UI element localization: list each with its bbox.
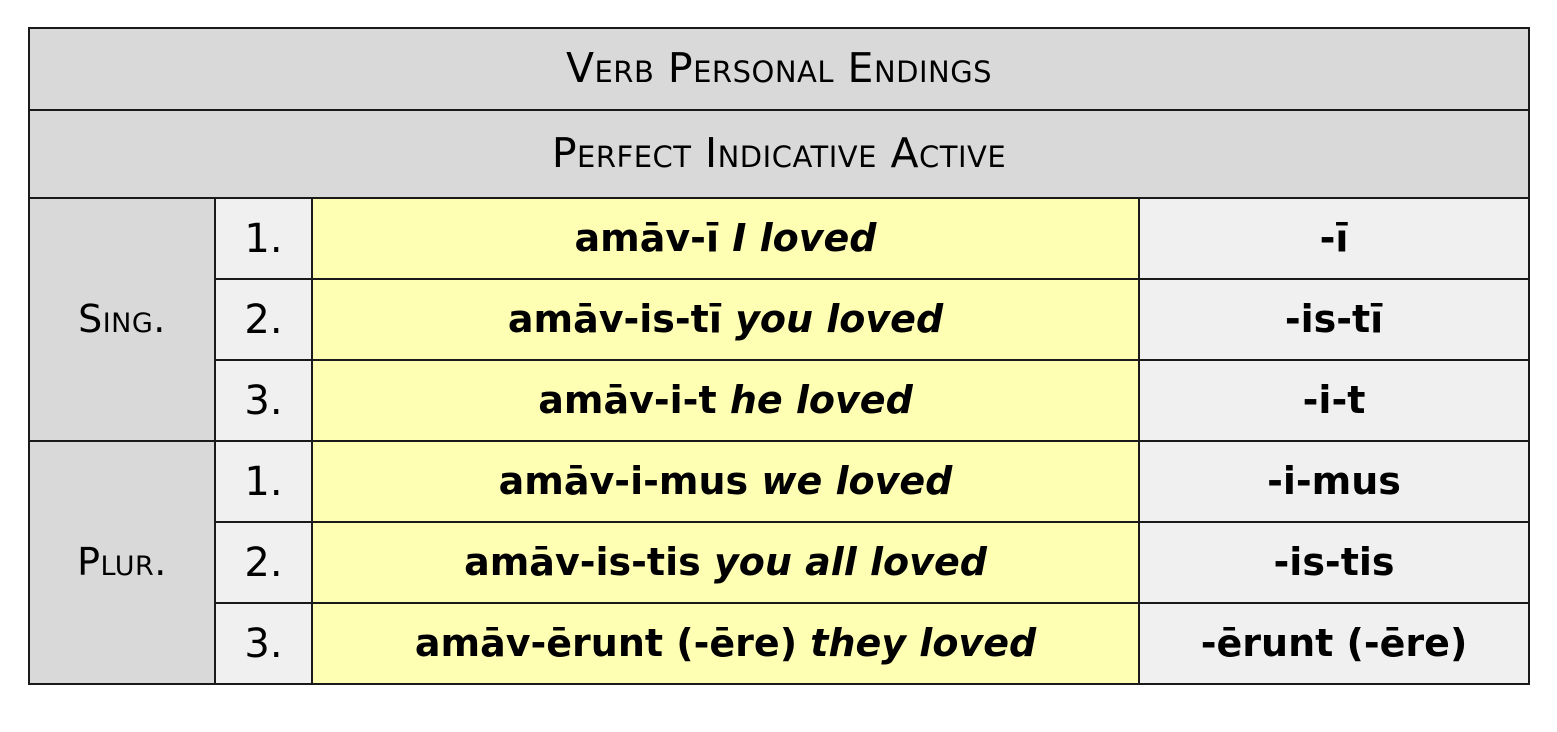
table-title-row: Verb Personal Endings <box>29 28 1529 110</box>
table-row: 3. amāv-i-t he loved -i-t <box>29 360 1529 441</box>
personal-ending: -is-tis <box>1139 522 1529 603</box>
personal-ending: -is-tī <box>1139 279 1529 360</box>
table-row: 2. amāv-is-tī you loved -is-tī <box>29 279 1529 360</box>
personal-ending: -i-mus <box>1139 441 1529 522</box>
personal-ending: -i-t <box>1139 360 1529 441</box>
person-number: 1. <box>215 441 312 522</box>
verb-gloss: we loved <box>761 459 952 503</box>
verb-paradigm-table: Verb Personal Endings Perfect Indicative… <box>28 27 1530 685</box>
block-label-singular: Sing. <box>29 198 215 441</box>
verb-gloss: they loved <box>810 621 1036 665</box>
table-row: 2. amāv-is-tis you all loved -is-tis <box>29 522 1529 603</box>
verb-form-cell: amāv-ērunt (-ēre) they loved <box>312 603 1139 684</box>
verb-form-cell: amāv-i-t he loved <box>312 360 1139 441</box>
verb-form: amāv-i-mus <box>499 459 749 503</box>
table-row: Plur. 1. amāv-i-mus we loved -i-mus <box>29 441 1529 522</box>
personal-ending: -ērunt (-ēre) <box>1139 603 1529 684</box>
table-subtitle-row: Perfect Indicative Active <box>29 110 1529 198</box>
verb-gloss: he loved <box>730 378 913 422</box>
verb-form: amāv-i-t <box>538 378 716 422</box>
verb-form-cell: amāv-i-mus we loved <box>312 441 1139 522</box>
person-number: 3. <box>215 603 312 684</box>
verb-form: amāv-ī <box>575 216 719 260</box>
block-label-plural: Plur. <box>29 441 215 684</box>
verb-gloss: you all loved <box>714 540 987 584</box>
verb-gloss: I loved <box>732 216 876 260</box>
verb-form-cell: amāv-is-tī you loved <box>312 279 1139 360</box>
personal-ending: -ī <box>1139 198 1529 279</box>
table-row: 3. amāv-ērunt (-ēre) they loved -ērunt (… <box>29 603 1529 684</box>
verb-form: amāv-is-tī <box>508 297 722 341</box>
table-subtitle: Perfect Indicative Active <box>29 110 1529 198</box>
person-number: 1. <box>215 198 312 279</box>
paradigm-sheet: Verb Personal Endings Perfect Indicative… <box>28 27 1528 682</box>
table-title: Verb Personal Endings <box>29 28 1529 110</box>
verb-form: amāv-is-tis <box>464 540 701 584</box>
verb-form-cell: amāv-ī I loved <box>312 198 1139 279</box>
verb-form: amāv-ērunt (-ēre) <box>415 621 797 665</box>
person-number: 3. <box>215 360 312 441</box>
verb-form-cell: amāv-is-tis you all loved <box>312 522 1139 603</box>
person-number: 2. <box>215 279 312 360</box>
verb-gloss: you loved <box>735 297 943 341</box>
table-row: Sing. 1. amāv-ī I loved -ī <box>29 198 1529 279</box>
person-number: 2. <box>215 522 312 603</box>
